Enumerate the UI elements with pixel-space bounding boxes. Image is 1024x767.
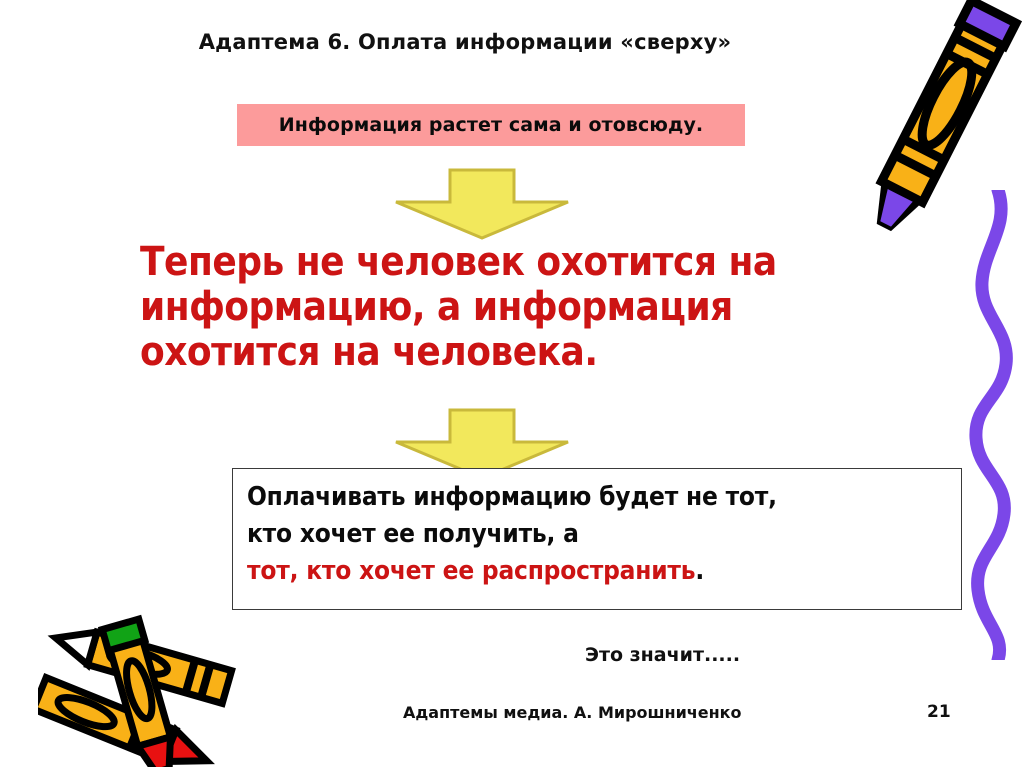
conclusion-line-3: тот, кто хочет ее распространить. (247, 553, 961, 590)
transition-note: Это значит..... (585, 644, 740, 666)
page-title: Адаптема 6. Оплата информации «сверху» (0, 30, 930, 54)
highlight-banner: Информация растет сама и отовсюду. (237, 104, 745, 146)
main-statement-line-1: Теперь не человек охотится на (140, 240, 900, 285)
squiggle-line-icon (958, 190, 1024, 660)
page-number: 21 (927, 702, 951, 722)
down-arrow-1 (392, 168, 572, 240)
highlight-banner-text: Информация растет сама и отовсюду. (279, 114, 704, 136)
main-statement-line-2: информацию, а информация (140, 285, 900, 330)
conclusion-line-2: кто хочет ее получить, а (247, 516, 961, 553)
crayon-group-icon (38, 604, 248, 767)
crayons-bottom-left-illustration (38, 604, 248, 767)
conclusion-line-3-tail: . (695, 556, 704, 586)
main-statement: Теперь не человек охотится на информацию… (140, 240, 900, 374)
purple-squiggle-illustration (958, 190, 1024, 660)
arrow-down-icon (392, 168, 572, 240)
main-statement-line-3: охотится на человека. (140, 330, 900, 375)
conclusion-box: Оплачивать информацию будет не тот, кто … (232, 468, 962, 610)
conclusion-line-1: Оплачивать информацию будет не тот, (247, 479, 961, 516)
conclusion-line-3-text: тот, кто хочет ее распространить (247, 556, 695, 586)
footer-credit: Адаптемы медиа. А. Мирошниченко (403, 703, 742, 722)
slide-canvas: Адаптема 6. Оплата информации «сверху» И… (0, 0, 1024, 767)
